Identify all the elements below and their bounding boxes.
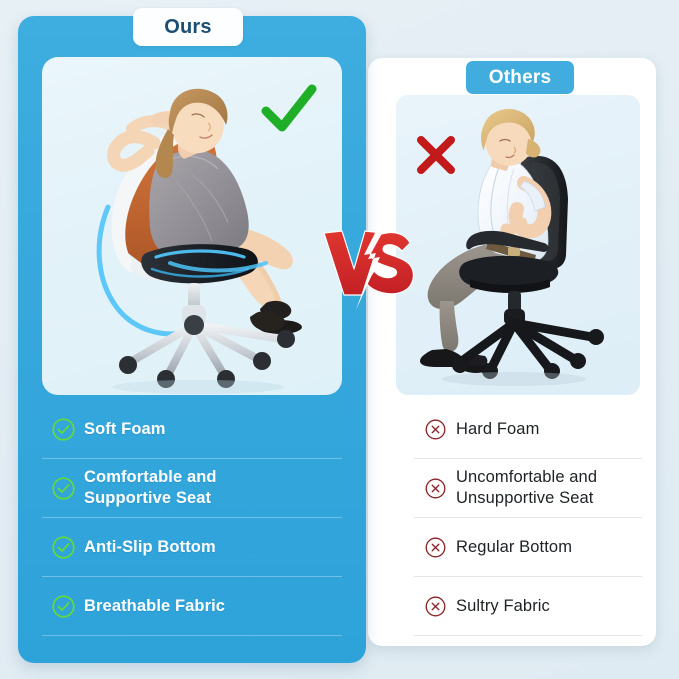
check-circle-icon xyxy=(42,535,84,560)
x-mark-icon xyxy=(414,133,458,177)
list-item-label: Breathable Fabric xyxy=(84,596,342,617)
x-circle-icon xyxy=(414,595,456,618)
list-item-label: Hard Foam xyxy=(456,419,642,440)
list-item: Comfortable and Supportive Seat xyxy=(42,459,342,518)
x-circle-icon xyxy=(414,418,456,441)
others-feature-list: Hard Foam Uncomfortable and Unsupportive… xyxy=(414,400,642,636)
list-item-label: Anti-Slip Bottom xyxy=(84,537,342,558)
list-item: Regular Bottom xyxy=(414,518,642,577)
vs-badge xyxy=(318,215,418,310)
check-circle-icon xyxy=(42,417,84,442)
ours-tab: Ours xyxy=(133,8,243,46)
x-circle-icon xyxy=(414,477,456,500)
ours-tab-label: Ours xyxy=(164,16,211,39)
list-item-label: Sultry Fabric xyxy=(456,596,642,617)
others-tab: Others xyxy=(466,61,574,94)
list-item: Hard Foam xyxy=(414,400,642,459)
check-circle-icon xyxy=(42,476,84,501)
list-item: Breathable Fabric xyxy=(42,577,342,636)
list-item: Soft Foam xyxy=(42,400,342,459)
list-item: Anti-Slip Bottom xyxy=(42,518,342,577)
comparison-infographic: Others Hard Foam Uncomfortable and Unsup… xyxy=(0,0,679,679)
x-circle-icon xyxy=(414,536,456,559)
list-item-label: Soft Foam xyxy=(84,419,342,440)
list-item-label: Regular Bottom xyxy=(456,537,642,558)
ours-feature-list: Soft Foam Comfortable and Supportive Sea… xyxy=(42,400,342,636)
check-mark-icon xyxy=(258,78,320,140)
others-tab-label: Others xyxy=(489,67,551,89)
list-item: Uncomfortable and Unsupportive Seat xyxy=(414,459,642,518)
list-item: Sultry Fabric xyxy=(414,577,642,636)
list-item-label: Uncomfortable and Unsupportive Seat xyxy=(456,467,642,509)
check-circle-icon xyxy=(42,594,84,619)
list-item-label: Comfortable and Supportive Seat xyxy=(84,467,342,509)
